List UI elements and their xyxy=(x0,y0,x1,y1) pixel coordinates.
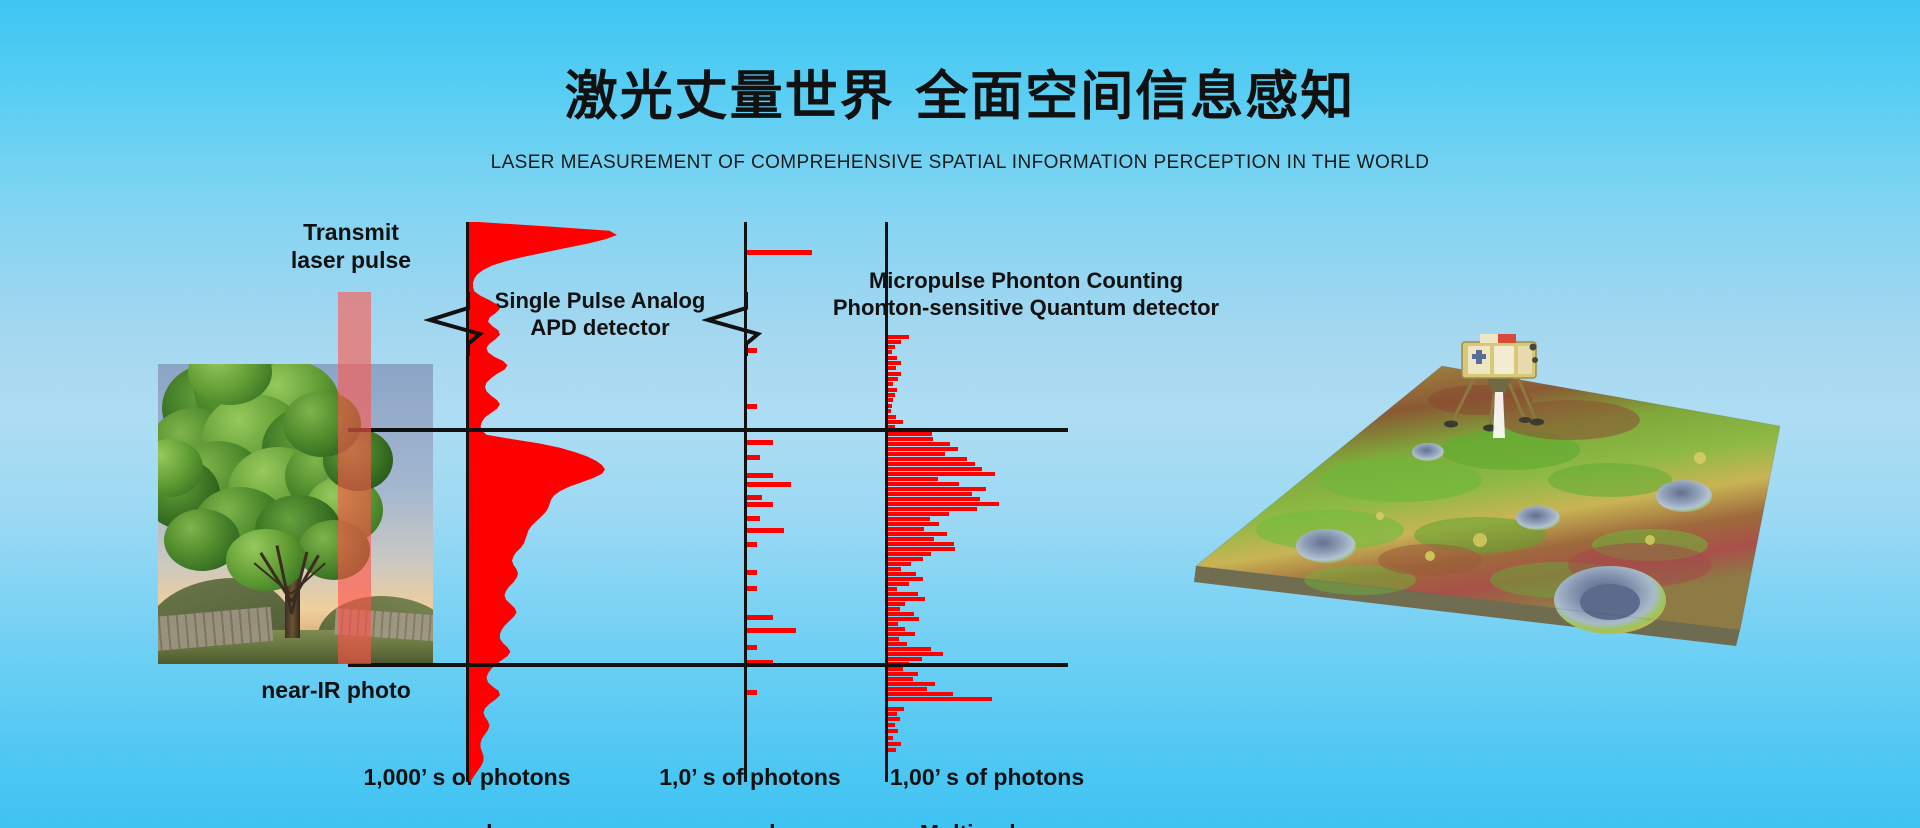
waveform-bar xyxy=(887,592,918,596)
waveform-bar xyxy=(887,442,950,446)
waveform-bar xyxy=(887,717,900,721)
waveform-bar xyxy=(887,742,901,746)
waveform-bar xyxy=(887,729,898,733)
waveform-bar xyxy=(887,512,949,516)
reference-line-2 xyxy=(348,663,1068,667)
waveform-bar xyxy=(887,517,930,521)
laser-beam xyxy=(338,292,371,664)
waveform-bar xyxy=(887,552,931,556)
waveform-bar xyxy=(887,567,901,571)
waveform-bar xyxy=(887,627,905,631)
waveform-bar xyxy=(746,542,757,547)
waveform-bar xyxy=(887,672,918,676)
waveform-bar xyxy=(887,361,901,365)
waveform-bar xyxy=(887,467,982,471)
waveform-bar xyxy=(887,677,913,681)
waveform-bar xyxy=(746,615,773,620)
waveform-bar xyxy=(887,612,914,616)
waveform-bar xyxy=(887,335,909,339)
waveform-bar xyxy=(887,667,903,671)
waveform-bar xyxy=(887,492,972,496)
waveform-bar xyxy=(887,607,900,611)
lander-exhaust-plume xyxy=(1493,392,1505,438)
waveform-bar xyxy=(887,652,943,656)
waveform-bar xyxy=(887,507,977,511)
waveform-bar xyxy=(887,657,922,661)
waveform-bar xyxy=(887,522,939,526)
waveform-bar xyxy=(887,632,915,636)
waveform-bar xyxy=(746,502,773,507)
waveform-bar xyxy=(887,377,898,381)
waveform-bar xyxy=(887,582,909,586)
waveform-bar xyxy=(887,372,901,376)
lander-flag xyxy=(1498,334,1516,343)
waveform-bar xyxy=(887,712,897,716)
waveform-bar xyxy=(887,687,927,691)
axis-micropulse-photon-counting xyxy=(885,222,888,782)
waveform-bar xyxy=(887,340,901,344)
waveform-bar xyxy=(887,482,959,486)
waveform-bar xyxy=(887,622,898,626)
waveform-bar xyxy=(887,502,999,506)
lander-instrument-b xyxy=(1472,354,1486,359)
waveform-bar xyxy=(887,642,907,646)
waveform-bar xyxy=(746,690,757,695)
waveform-bar xyxy=(887,388,897,392)
waveform-bar xyxy=(887,497,980,501)
waveform-bar xyxy=(746,516,760,521)
waveform-bar xyxy=(887,542,954,546)
terrain-crater-3 xyxy=(1516,506,1560,530)
waveform-bar xyxy=(746,404,757,409)
waveform-bar xyxy=(746,528,784,533)
waveform-bar xyxy=(887,472,995,476)
lunar-lander xyxy=(1432,330,1572,450)
waveform-bar xyxy=(746,570,757,575)
lander-antenna-dish xyxy=(1530,344,1537,351)
waveform-bar xyxy=(746,482,791,487)
waveform-bar xyxy=(887,420,903,424)
waveform-bar xyxy=(887,723,895,727)
waveform-bar xyxy=(887,366,896,370)
waveform-bar xyxy=(887,697,992,701)
waveform-bar xyxy=(887,356,897,360)
waveform-bar xyxy=(887,682,935,686)
waveform-bar xyxy=(887,707,904,711)
waveform-bar xyxy=(746,250,812,255)
waveform-bar xyxy=(887,557,923,561)
poster-stage: 激光丈量世界 全面空间信息感知 LASER MEASUREMENT OF COM… xyxy=(0,0,1920,828)
waveform-bar xyxy=(887,647,931,651)
waveform-bar xyxy=(746,495,762,500)
waveform-bar xyxy=(887,432,932,436)
axis-break-zigzag-1 xyxy=(424,290,500,358)
lander-thruster xyxy=(1532,357,1538,363)
waveform-bar xyxy=(887,748,896,752)
lander-panel-mid xyxy=(1494,346,1514,374)
waveform-bar xyxy=(746,628,796,633)
waveform-bar xyxy=(887,447,958,451)
waveform-bar xyxy=(887,587,897,591)
lander-top-deck xyxy=(1480,334,1498,343)
waveform-bar xyxy=(887,537,934,541)
waveform-bar xyxy=(887,547,955,551)
waveform-bar xyxy=(887,477,938,481)
waveform-bar xyxy=(887,437,933,441)
waveform-bar xyxy=(887,617,919,621)
terrain-crater-2 xyxy=(1656,480,1712,512)
waveform-bar xyxy=(887,597,925,601)
waveform-bar xyxy=(746,586,757,591)
waveform-bar xyxy=(746,455,760,460)
waveform-bar xyxy=(887,527,924,531)
waveform-bar xyxy=(746,645,757,650)
waveform-bar xyxy=(887,637,899,641)
waveform-bar xyxy=(887,345,895,349)
waveform-bar xyxy=(887,602,905,606)
waveform-bar xyxy=(887,562,911,566)
lander-panel-right xyxy=(1518,346,1532,374)
waveform-bar xyxy=(887,487,986,491)
waveform-bar xyxy=(746,440,773,445)
waveform-bar xyxy=(887,452,945,456)
waveform-bar xyxy=(746,473,773,478)
waveform-bar xyxy=(887,462,975,466)
waveform-bar xyxy=(887,393,895,397)
axis-break-zigzag-2 xyxy=(702,290,778,358)
terrain-crater-4 xyxy=(1296,529,1356,563)
reference-line-1 xyxy=(348,428,1068,432)
waveform-bar xyxy=(887,692,953,696)
waveform-bar xyxy=(887,572,916,576)
lander-svg xyxy=(1432,330,1572,450)
waveform-bar xyxy=(887,532,947,536)
waveform-bar xyxy=(887,457,967,461)
waveform-bar xyxy=(887,577,923,581)
waveform-bar xyxy=(887,415,896,419)
